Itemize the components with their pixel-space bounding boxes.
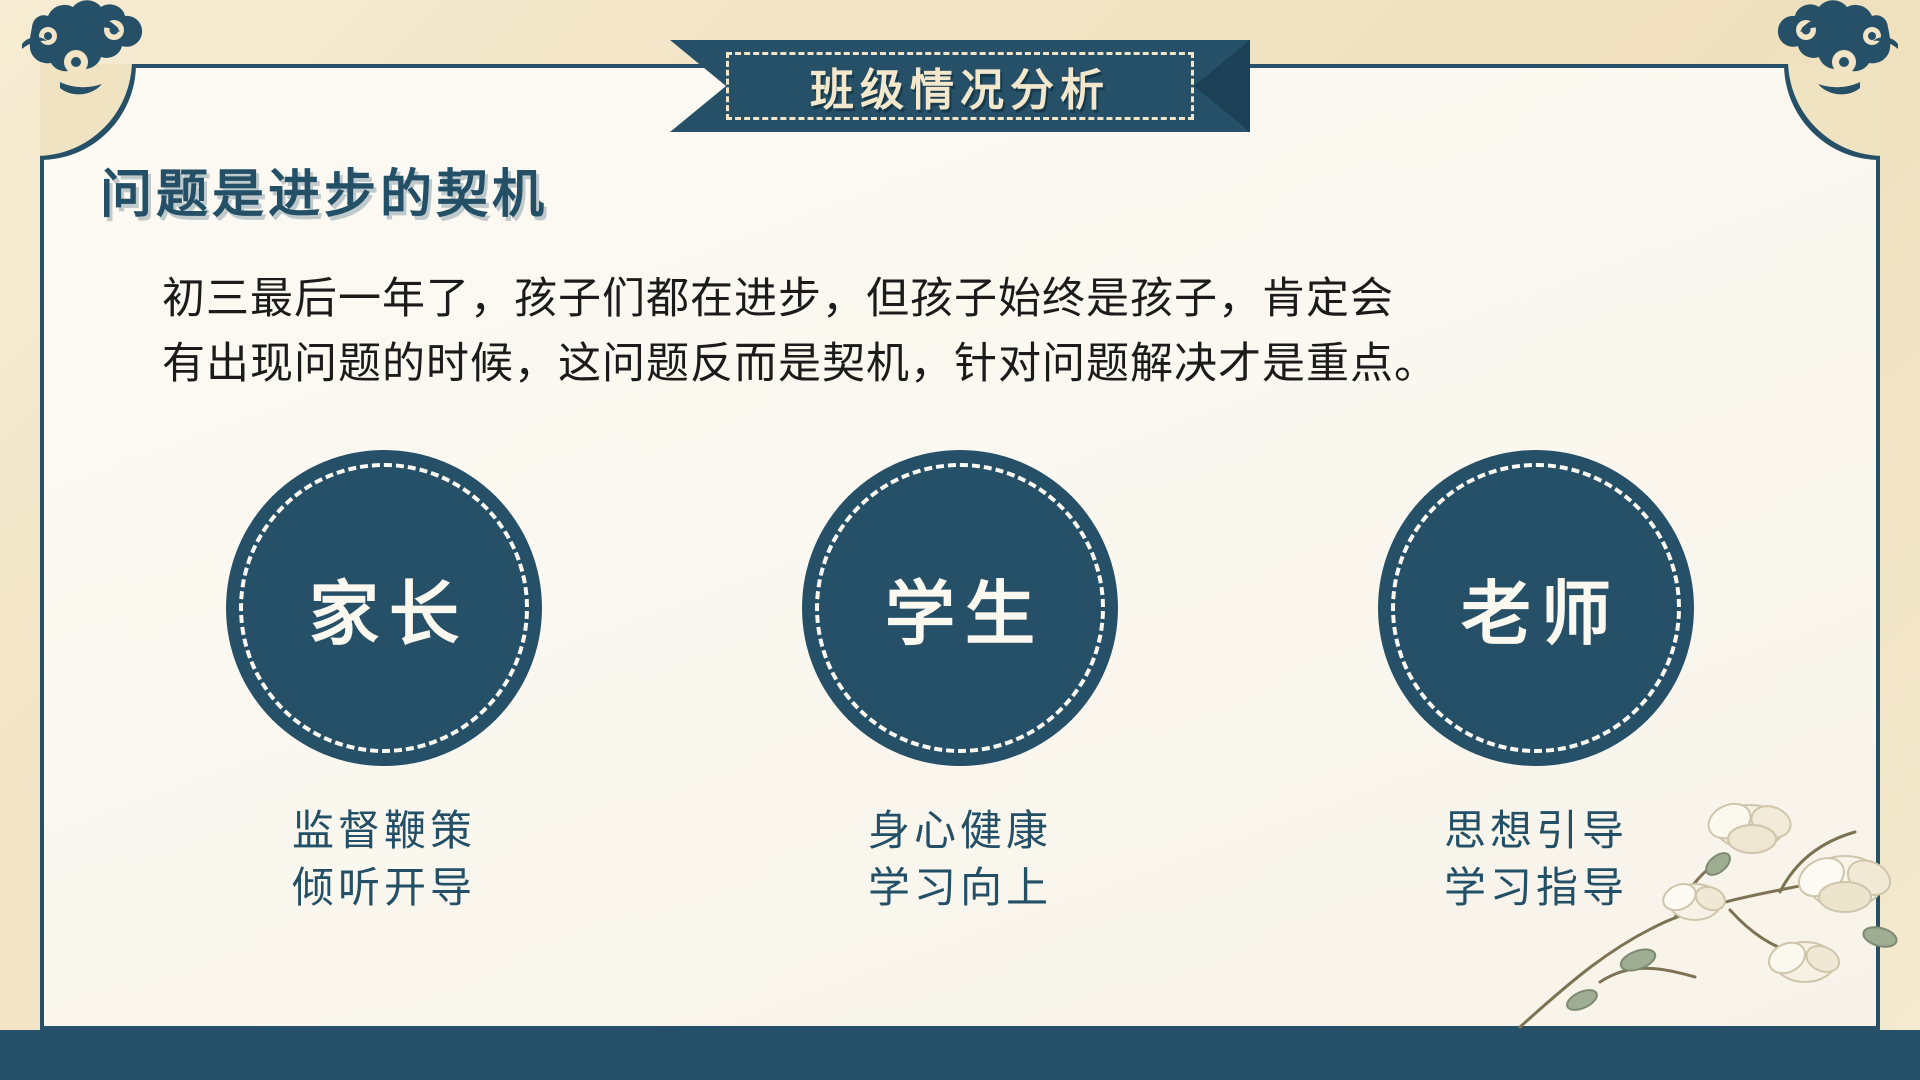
role-circle-student[interactable]: 学生: [802, 450, 1118, 766]
magnolia-flower-icon: [1450, 732, 1920, 1032]
cloud-ornament-icon: [1756, 0, 1906, 150]
role-circle-label: 家长: [299, 558, 469, 659]
page-title: 问题是进步的契机: [100, 152, 548, 227]
role-item-parent: 家长 监督鞭策 倾听开导: [194, 450, 574, 917]
role-circle-parent[interactable]: 家长: [226, 450, 542, 766]
intro-paragraph: 初三最后一年了，孩子们都在进步，但孩子始终是孩子，肯定会 有出现问题的时候，这问…: [162, 268, 1762, 397]
title-banner: 班级情况分析: [670, 40, 1250, 132]
intro-paragraph-line-1: 初三最后一年了，孩子们都在进步，但孩子始终是孩子，肯定会: [162, 268, 1762, 333]
role-caption-student: 身心健康 学习向上: [868, 804, 1052, 917]
role-caption-line-2: 学习向上: [868, 861, 1052, 918]
role-caption-parent: 监督鞭策 倾听开导: [292, 804, 476, 917]
footer-bar: [0, 1030, 1920, 1080]
banner-title: 班级情况分析: [670, 40, 1250, 132]
role-item-student: 学生 身心健康 学习向上: [770, 450, 1150, 917]
role-caption-line-1: 身心健康: [868, 804, 1052, 861]
slide-canvas: 班级情况分析 问题是进步的契机 初三最后一年了，孩子们都在进步，但孩子始终是孩子…: [0, 0, 1920, 1080]
role-caption-line-1: 监督鞭策: [292, 804, 476, 861]
role-caption-line-2: 倾听开导: [292, 861, 476, 918]
role-circle-label: 学生: [875, 558, 1045, 659]
role-circle-label: 老师: [1451, 558, 1621, 659]
cloud-ornament-icon: [14, 0, 164, 150]
role-circle-teacher[interactable]: 老师: [1378, 450, 1694, 766]
intro-paragraph-line-2: 有出现问题的时候，这问题反而是契机，针对问题解决才是重点。: [162, 333, 1762, 398]
